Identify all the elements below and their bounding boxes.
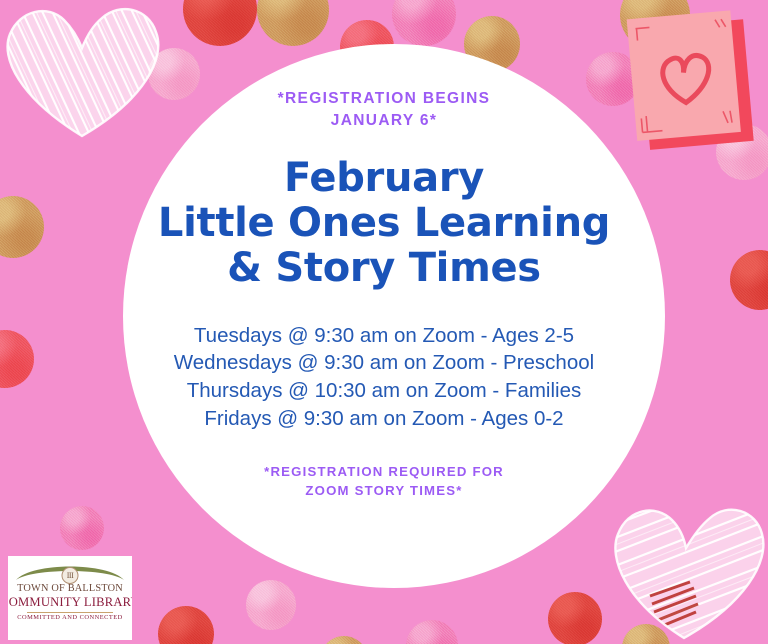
logo-divider: [27, 612, 113, 613]
poster-canvas: *REGISTRATION BEGINS JANUARY 6* February…: [0, 0, 768, 644]
page-title: February Little Ones Learning & Story Ti…: [158, 156, 610, 292]
library-logo: III TOWN OF BALLSTON COMMUNITY LIBRARY C…: [8, 556, 132, 640]
registration-begins-line2: JANUARY 6*: [331, 112, 438, 129]
logo-line-town: TOWN OF BALLSTON: [17, 583, 123, 594]
logo-tagline: COMMITTED AND CONNECTED: [17, 614, 123, 621]
title-line-story-times: & Story Times: [158, 246, 610, 291]
registration-begins-notice: *REGISTRATION BEGINS JANUARY 6*: [278, 88, 491, 132]
schedule-item-fridays: Fridays @ 9:30 am on Zoom - Ages 0-2: [174, 405, 594, 433]
title-line-program: Little Ones Learning: [158, 201, 610, 246]
logo-line-library: COMMUNITY LIBRARY: [8, 595, 132, 610]
registration-begins-line1: *REGISTRATION BEGINS: [278, 90, 491, 107]
schedule-item-wednesdays: Wednesdays @ 9:30 am on Zoom - Preschool: [174, 349, 594, 377]
registration-required-line1: *REGISTRATION REQUIRED FOR: [264, 464, 504, 479]
schedule-item-tuesdays: Tuesdays @ 9:30 am on Zoom - Ages 2-5: [174, 322, 594, 350]
title-line-month: February: [158, 156, 610, 201]
registration-required-notice: *REGISTRATION REQUIRED FOR ZOOM STORY TI…: [264, 462, 504, 500]
logo-arch-graphic: III: [14, 560, 126, 582]
registration-required-line2: ZOOM STORY TIMES*: [305, 483, 462, 498]
logo-crest-text: III: [67, 571, 74, 580]
schedule-list: Tuesdays @ 9:30 am on Zoom - Ages 2-5 We…: [174, 322, 594, 433]
schedule-item-thursdays: Thursdays @ 10:30 am on Zoom - Families: [174, 377, 594, 405]
logo-crest-icon: III: [62, 567, 79, 584]
poster-content: *REGISTRATION BEGINS JANUARY 6* February…: [0, 0, 768, 644]
